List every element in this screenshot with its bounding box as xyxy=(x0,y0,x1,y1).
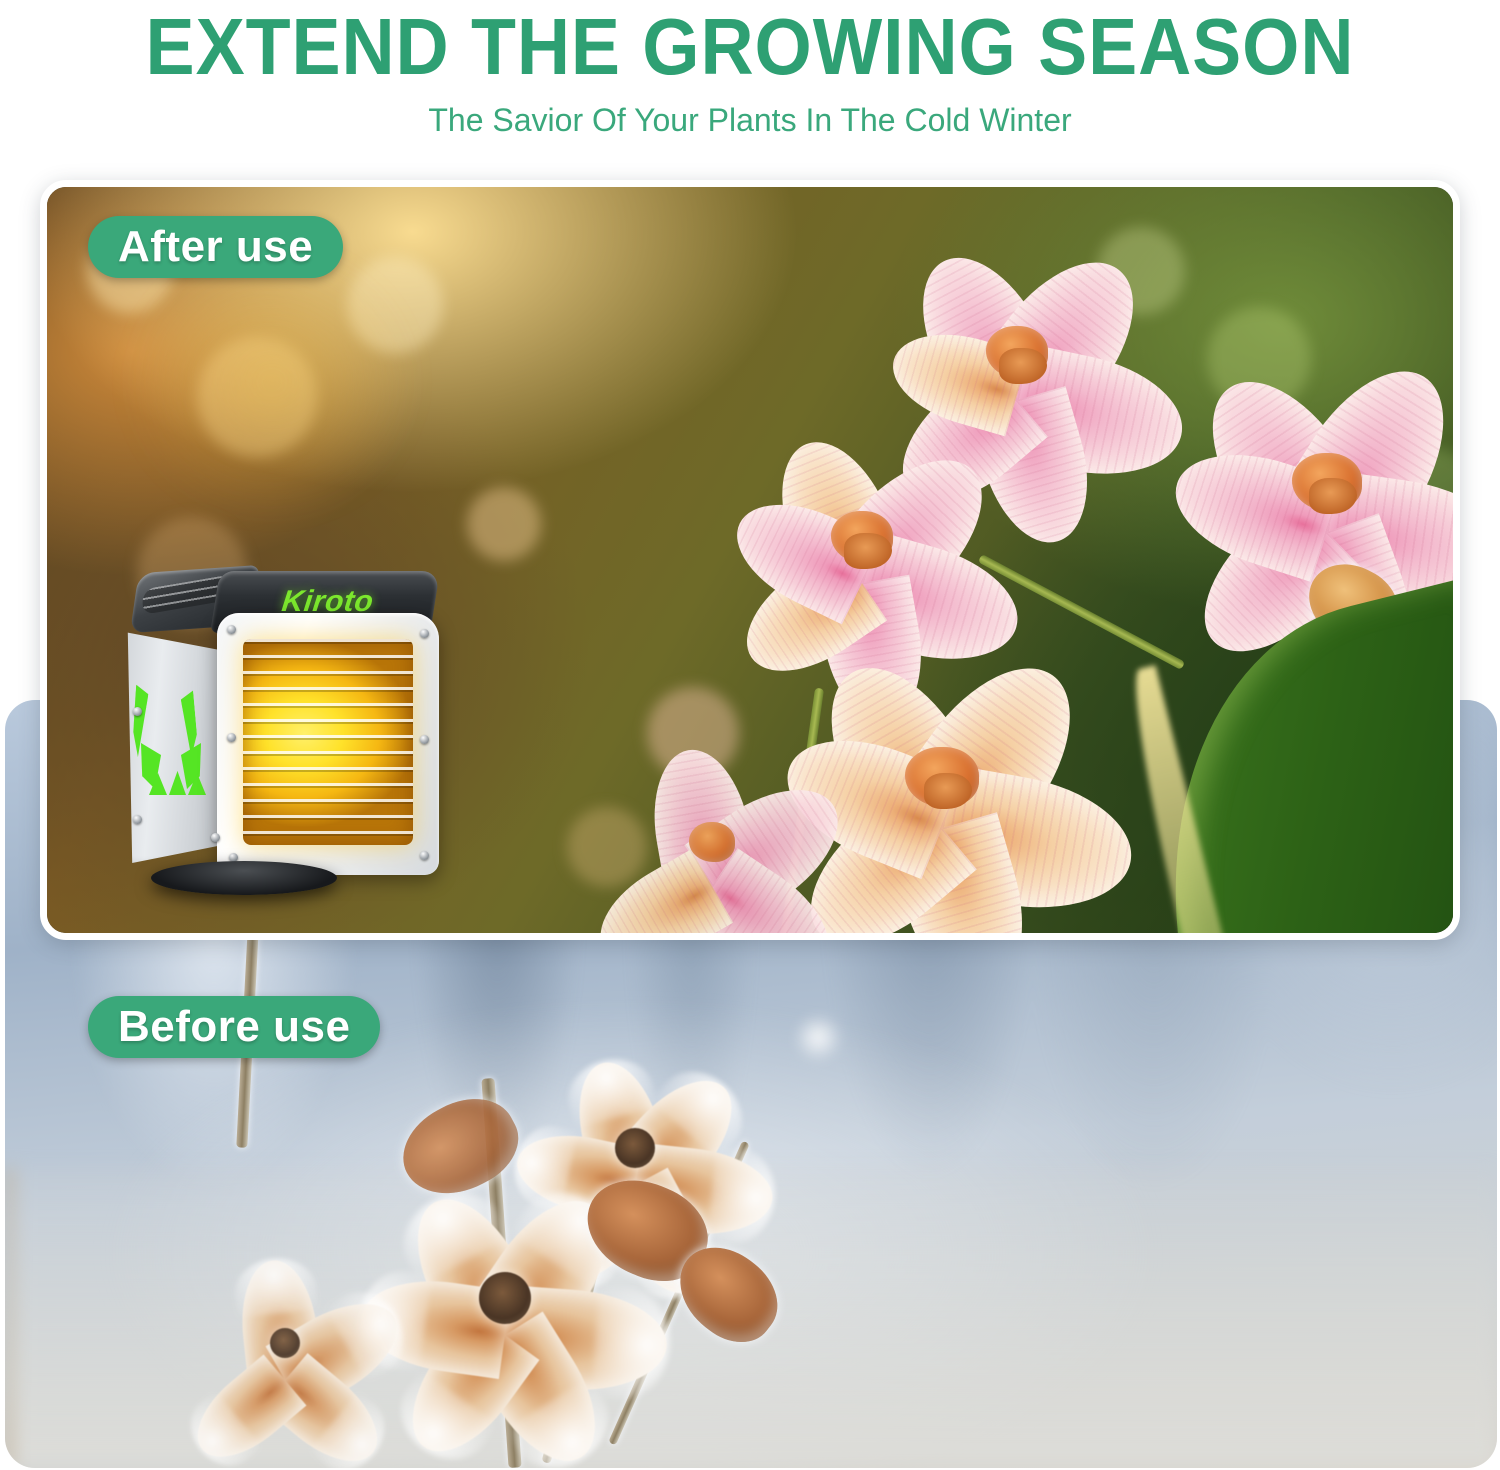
orchid-bloom xyxy=(577,727,847,940)
product-heater: Kiroto xyxy=(107,565,452,905)
badge-after-use: After use xyxy=(88,216,343,278)
heater-base xyxy=(151,861,337,895)
bokeh-circle xyxy=(467,487,541,561)
heater-front-housing xyxy=(217,613,439,875)
page-subtitle: The Savior Of Your Plants In The Cold Wi… xyxy=(0,100,1500,140)
orchid-bloom xyxy=(717,417,1007,657)
frosted-flower-cluster xyxy=(155,908,875,1468)
badge-before-use-label: Before use xyxy=(118,1002,350,1052)
page-title: EXTEND THE GROWING SEASON xyxy=(60,2,1440,92)
frosted-flower xyxy=(165,1238,405,1448)
header: EXTEND THE GROWING SEASON The Savior Of … xyxy=(0,0,1500,160)
bokeh-circle xyxy=(197,337,317,457)
after-use-image-panel: Kiroto xyxy=(40,180,1460,940)
bokeh-circle xyxy=(347,257,443,353)
heater-grille xyxy=(243,639,413,845)
badge-before-use: Before use xyxy=(88,996,380,1058)
badge-after-use-label: After use xyxy=(118,222,313,272)
orchid-bloom xyxy=(1167,347,1460,617)
green-chevron-decal-icon xyxy=(129,685,215,795)
